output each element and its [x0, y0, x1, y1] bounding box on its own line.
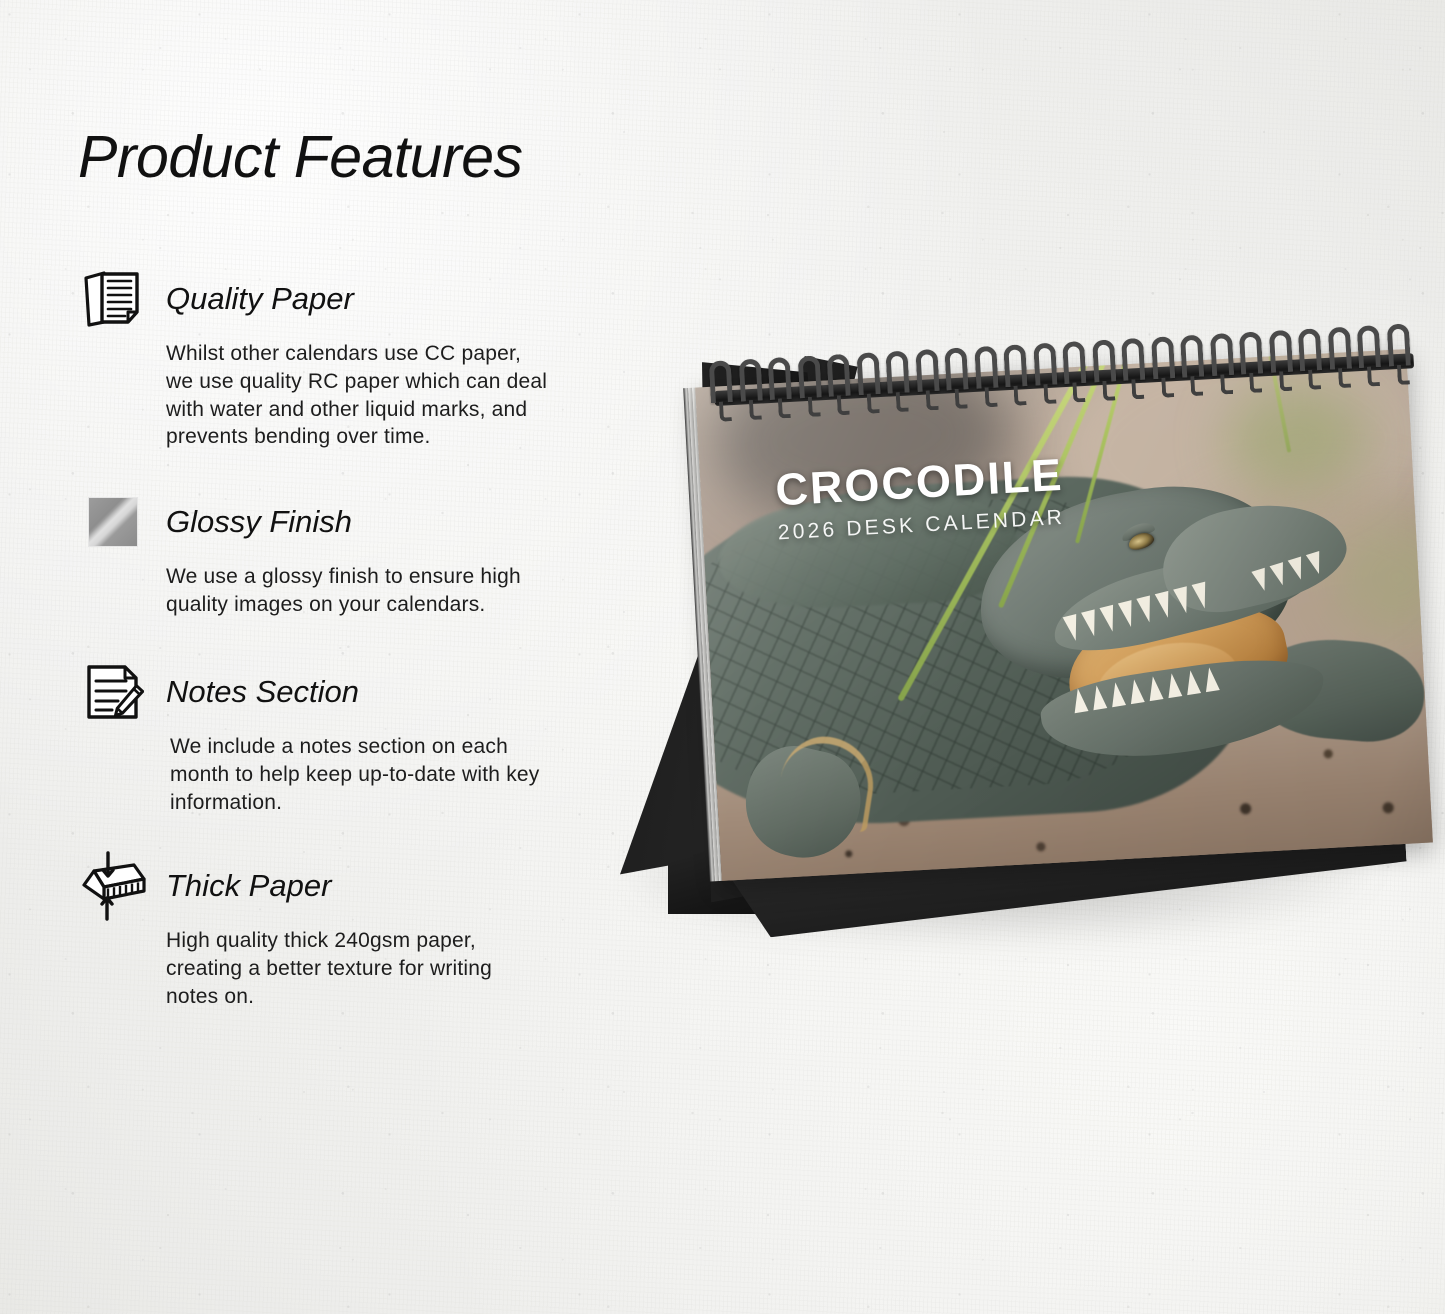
product-features-panel: Product Features	[78, 126, 638, 1045]
spiral-coil	[1327, 327, 1351, 370]
spiral-coil	[738, 359, 762, 402]
feature-header: Thick Paper	[78, 851, 638, 921]
feature-notes-section: Notes Section We include a notes section…	[78, 657, 638, 817]
stacked-papers-icon	[78, 264, 148, 334]
spiral-coil	[885, 351, 909, 394]
page-title: Product Features	[78, 126, 638, 190]
feature-glossy-finish: Glossy Finish We use a glossy finish to …	[78, 487, 638, 619]
glossy-swatch-icon	[78, 487, 148, 557]
feature-description: High quality thick 240gsm paper, creatin…	[166, 927, 626, 1011]
spiral-coil	[827, 354, 851, 397]
spiral-coil	[709, 360, 733, 403]
feature-description: We include a notes section on each month…	[170, 733, 630, 817]
crocodile-desk-calendar-mockup: CROCODILE 2026 DESK CALENDAR	[600, 330, 1430, 970]
feature-title: Thick Paper	[166, 869, 331, 903]
spiral-coil	[1268, 330, 1292, 373]
spiral-coil	[1298, 328, 1322, 371]
spiral-coil	[1209, 333, 1233, 376]
spiral-coil	[1357, 325, 1381, 368]
feature-quality-paper: Quality Paper Whilst other calendars use…	[78, 264, 638, 452]
spiral-coil	[1062, 341, 1086, 384]
feature-header: Quality Paper	[78, 264, 638, 334]
feature-title: Notes Section	[166, 675, 359, 709]
feature-header: Glossy Finish	[78, 487, 638, 557]
spiral-coil	[944, 347, 968, 390]
spiral-coil	[1239, 331, 1263, 374]
thick-slab-icon	[78, 851, 148, 921]
spiral-coil	[1151, 336, 1175, 379]
spiral-coil	[1386, 323, 1410, 366]
feature-description: We use a glossy finish to ensure high qu…	[166, 563, 626, 619]
note-pencil-icon	[78, 657, 148, 727]
feature-header: Notes Section	[78, 657, 638, 727]
spiral-coil	[1092, 339, 1116, 382]
spiral-coil	[797, 355, 821, 398]
feature-title: Glossy Finish	[166, 505, 352, 539]
spiral-coil	[856, 352, 880, 395]
feature-thick-paper: Thick Paper High quality thick 240gsm pa…	[78, 851, 638, 1011]
spiral-coil	[768, 357, 792, 400]
spiral-coil	[1121, 338, 1145, 381]
spiral-coil	[1033, 343, 1057, 386]
spiral-coil	[915, 349, 939, 392]
spiral-coil	[1003, 344, 1027, 387]
feature-description: Whilst other calendars use CC paper, we …	[166, 340, 626, 452]
spiral-coil	[974, 346, 998, 389]
feature-title: Quality Paper	[166, 282, 354, 316]
spiral-coil	[1180, 335, 1204, 378]
